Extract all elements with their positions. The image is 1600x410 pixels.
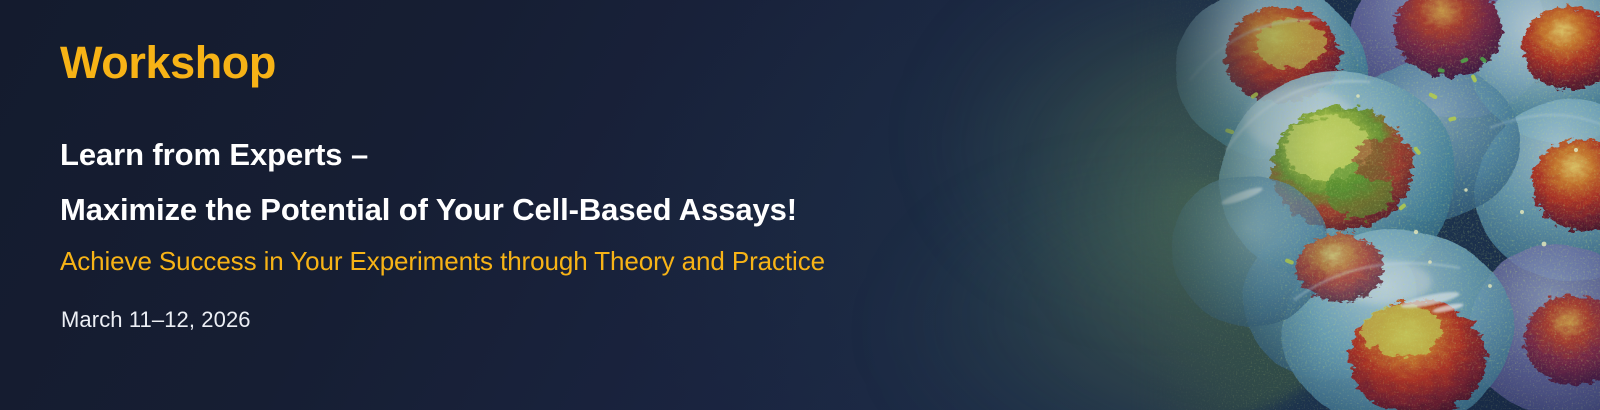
headline-line-2: Maximize the Potential of Your Cell-Base…	[60, 182, 797, 237]
workshop-promo-banner: Workshop Learn from Experts – Maximize t…	[0, 0, 1600, 410]
banner-subtitle: Achieve Success in Your Experiments thro…	[60, 246, 825, 277]
banner-headline: Learn from Experts – Maximize the Potent…	[60, 127, 797, 237]
cell-culture-microscopy-image	[1130, 0, 1600, 410]
banner-text-block: Workshop Learn from Experts – Maximize t…	[60, 0, 1060, 410]
headline-line-1: Learn from Experts –	[60, 127, 797, 182]
banner-date: March 11–12, 2026	[61, 307, 251, 333]
banner-eyebrow-workshop: Workshop	[60, 37, 276, 89]
